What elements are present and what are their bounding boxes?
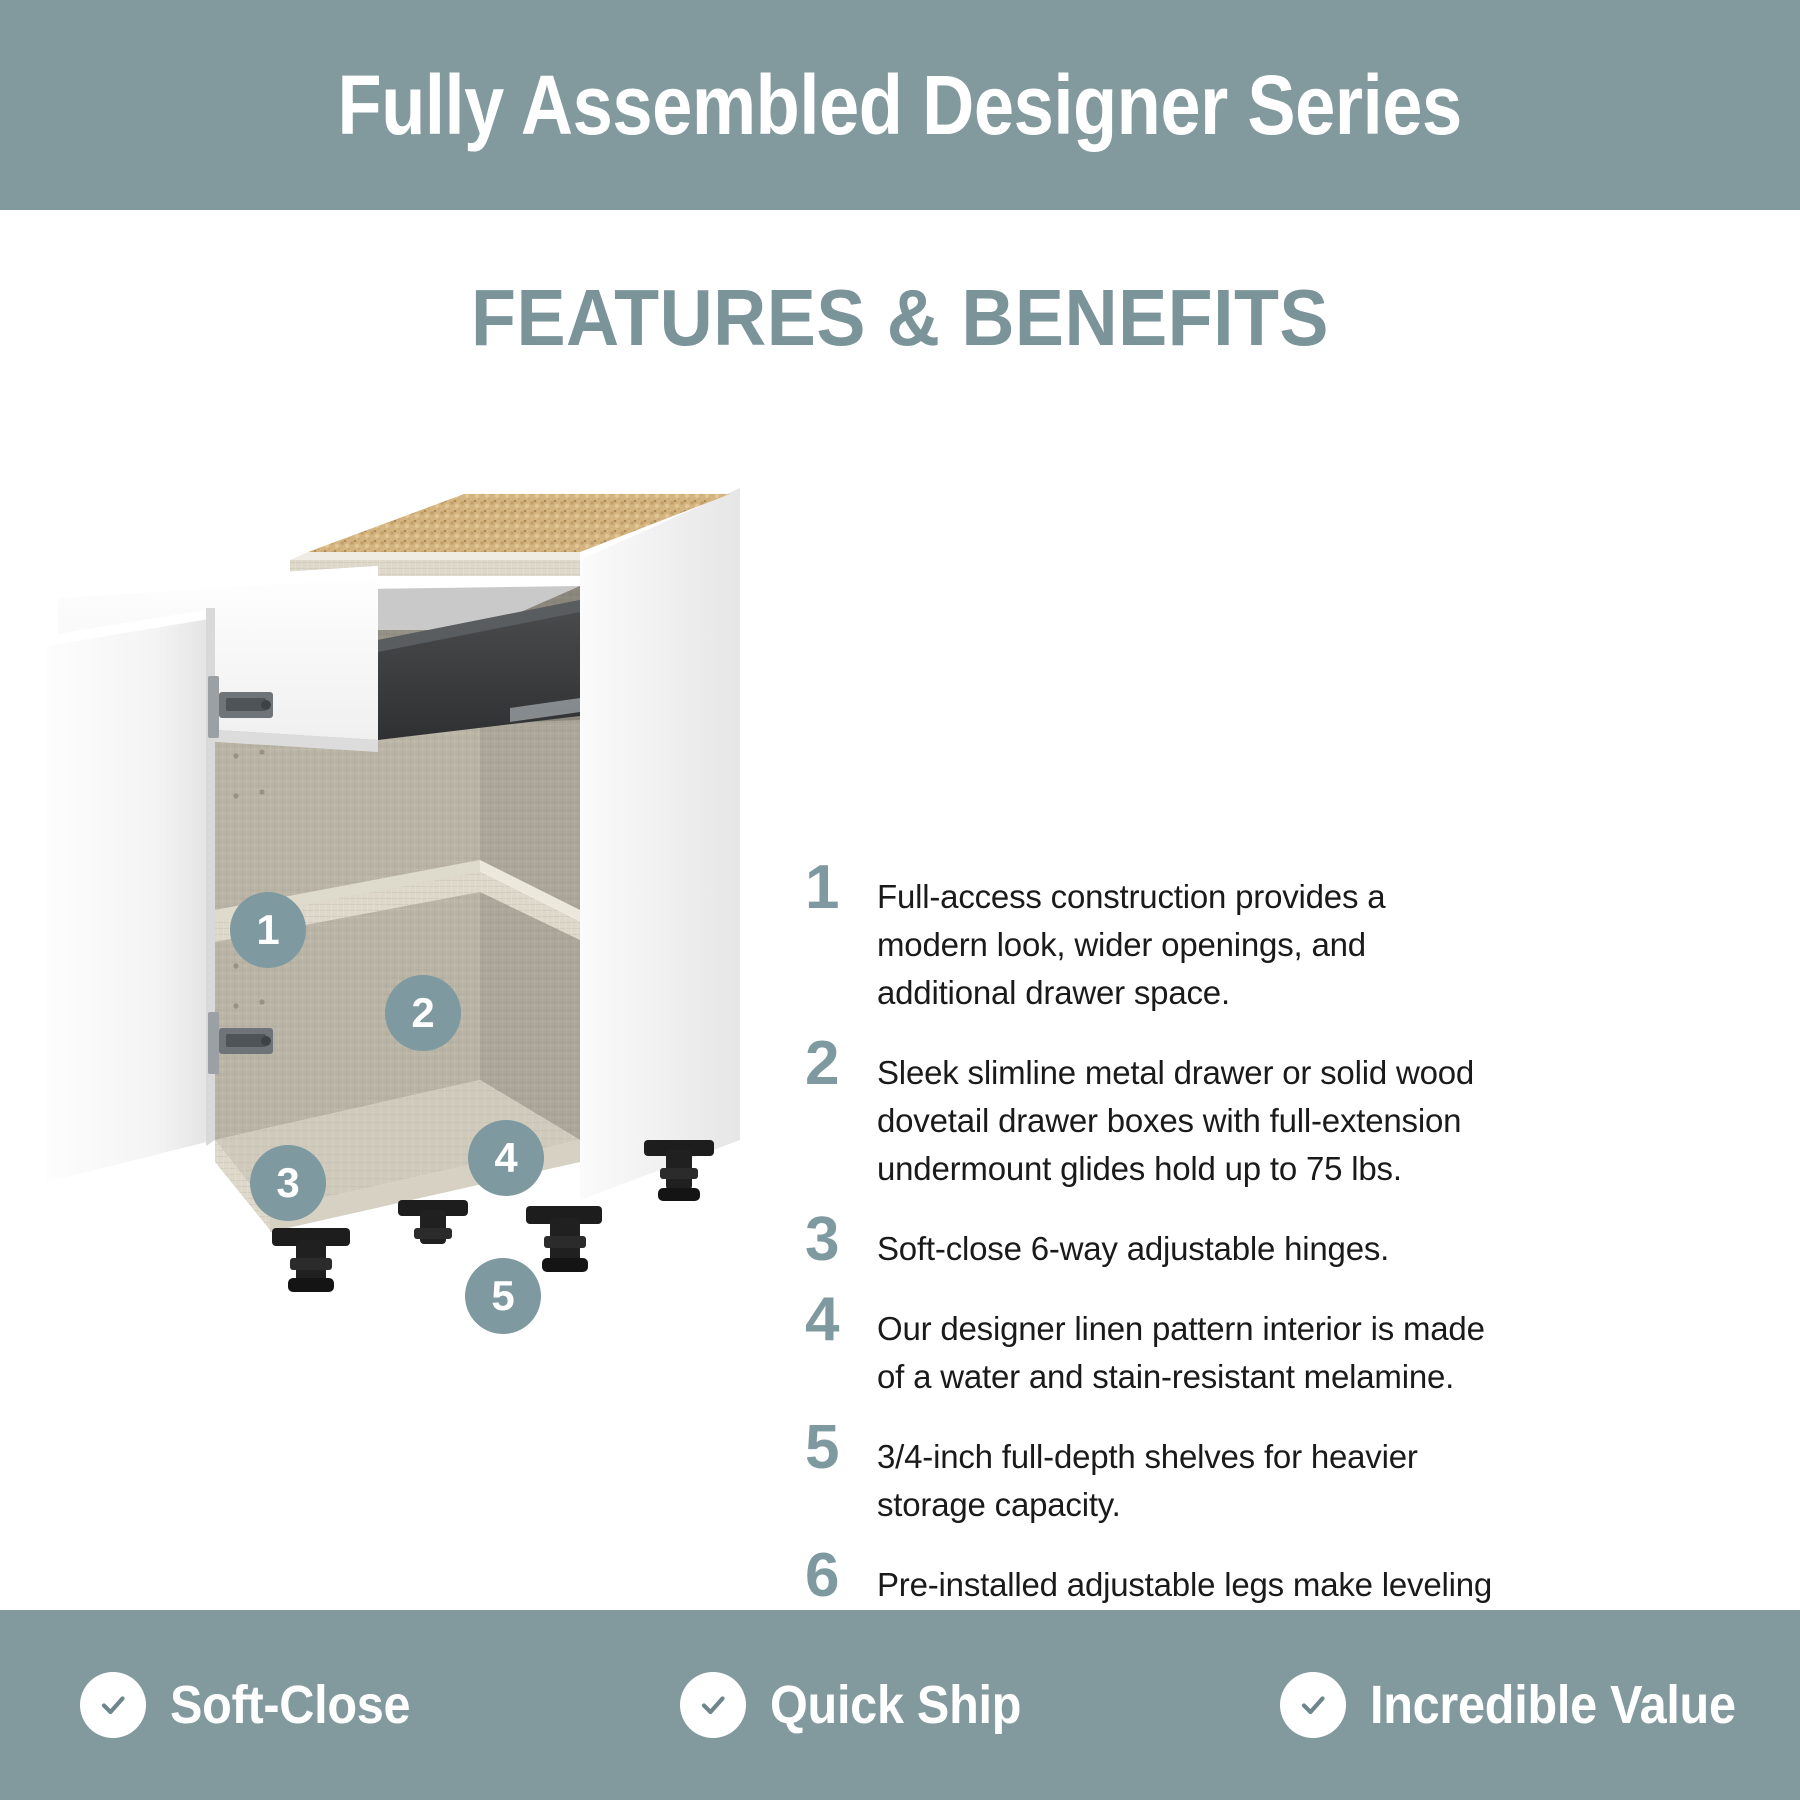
feature-number: 4 [805, 1287, 877, 1351]
adjustable-leg [272, 1228, 350, 1292]
feature-number: 5 [805, 1415, 877, 1479]
footer-badge-incredible-value: Incredible Value [1200, 1672, 1800, 1738]
feature-number: 3 [805, 1207, 877, 1271]
footer-badge-soft-close: Soft-Close [0, 1672, 600, 1738]
features-list: 1 Full-access construction provides a mo… [805, 855, 1505, 1671]
feature-number: 6 [805, 1543, 877, 1607]
footer-badge-label: Soft-Close [170, 1678, 410, 1732]
check-circle-icon [80, 1672, 146, 1738]
feature-item: 4 Our designer linen pattern interior is… [805, 1287, 1505, 1401]
cabinet-top-front-edge [290, 552, 580, 560]
callout-badge-2: 2 [385, 975, 461, 1051]
footer-banner: Soft-Close Quick Ship Incredible Value [0, 1610, 1800, 1800]
adjustable-leg [526, 1206, 602, 1272]
feature-description: Our designer linen pattern interior is m… [877, 1287, 1505, 1401]
footer-badge-quick-ship: Quick Ship [600, 1672, 1200, 1738]
product-illustration: 1 2 3 4 5 6 [40, 440, 800, 1340]
adjustable-leg [398, 1200, 468, 1244]
check-circle-icon [1280, 1672, 1346, 1738]
feature-number: 1 [805, 855, 877, 919]
feature-item: 1 Full-access construction provides a mo… [805, 855, 1505, 1017]
feature-item: 3 Soft-close 6-way adjustable hinges. [805, 1207, 1505, 1273]
cabinet-diagram [40, 440, 800, 1340]
callout-badge-4: 4 [468, 1120, 544, 1196]
feature-item: 2 Sleek slimline metal drawer or solid w… [805, 1031, 1505, 1193]
feature-number: 2 [805, 1031, 877, 1095]
feature-item: 5 3/4-inch full-depth shelves for heavie… [805, 1415, 1505, 1529]
section-heading: FEATURES & BENEFITS [72, 278, 1728, 358]
footer-badge-label: Quick Ship [770, 1678, 1021, 1732]
main-content: 1 2 3 4 5 6 1 Full-access construction p… [0, 410, 1800, 1490]
cabinet-right-side-panel [580, 488, 740, 1200]
cabinet-door-panel [46, 608, 215, 1182]
feature-description: Soft-close 6-way adjustable hinges. [877, 1207, 1505, 1273]
feature-description: Full-access construction provides a mode… [877, 855, 1505, 1017]
page-title: Fully Assembled Designer Series [338, 63, 1462, 147]
header-banner: Fully Assembled Designer Series [0, 0, 1800, 210]
feature-description: 3/4-inch full-depth shelves for heavier … [877, 1415, 1505, 1529]
callout-badge-5: 5 [465, 1258, 541, 1334]
feature-description: Sleek slimline metal drawer or solid woo… [877, 1031, 1505, 1193]
callout-badge-1: 1 [230, 892, 306, 968]
callout-badge-3: 3 [250, 1145, 326, 1221]
check-circle-icon [680, 1672, 746, 1738]
footer-badge-label: Incredible Value [1370, 1678, 1736, 1732]
